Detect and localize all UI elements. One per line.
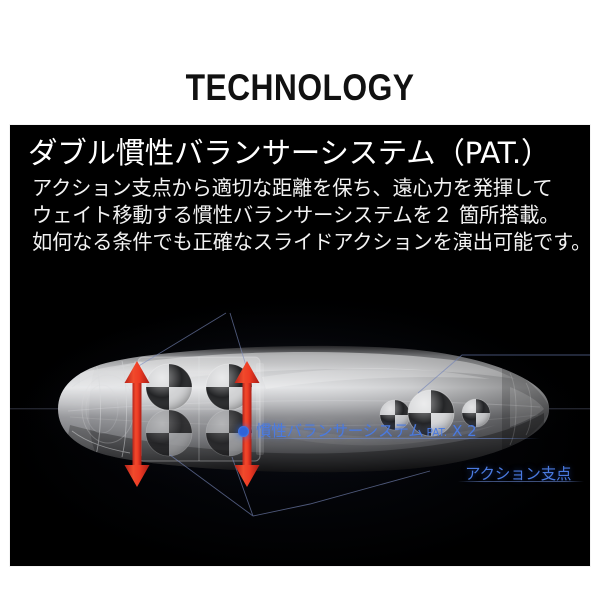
body-line: ウェイト移動する慣性バランサーシステムを２ 箇所搭載。 <box>32 202 578 229</box>
weight-ball-reflection <box>146 410 192 456</box>
leader-seesaw-right <box>253 471 430 516</box>
callout-fulcrum-underline <box>458 481 584 482</box>
blue-dot-icon <box>238 426 249 437</box>
callout-inertia-underline <box>246 438 540 439</box>
technology-panel: 慣性バランサーシステム PAT. X 2 アクション支点 シーソーバランシングシ… <box>10 125 590 566</box>
page-title: TECHNOLOGY <box>42 68 558 108</box>
screenshot-root: TECHNOLOGY <box>0 0 600 600</box>
weight-ball <box>146 364 192 410</box>
panel-heading: ダブル慣性バランサーシステム（PAT.） <box>28 135 568 171</box>
body-line: 如何なる条件でも正確なスライドアクションを演出可能です。 <box>32 229 578 256</box>
lure-body <box>58 346 550 477</box>
body-line: アクション支点から適切な距離を保ち、遠心力を発揮して <box>32 175 578 202</box>
panel-body-copy: アクション支点から適切な距離を保ち、遠心力を発揮して ウェイト移動する慣性バラン… <box>32 175 578 256</box>
